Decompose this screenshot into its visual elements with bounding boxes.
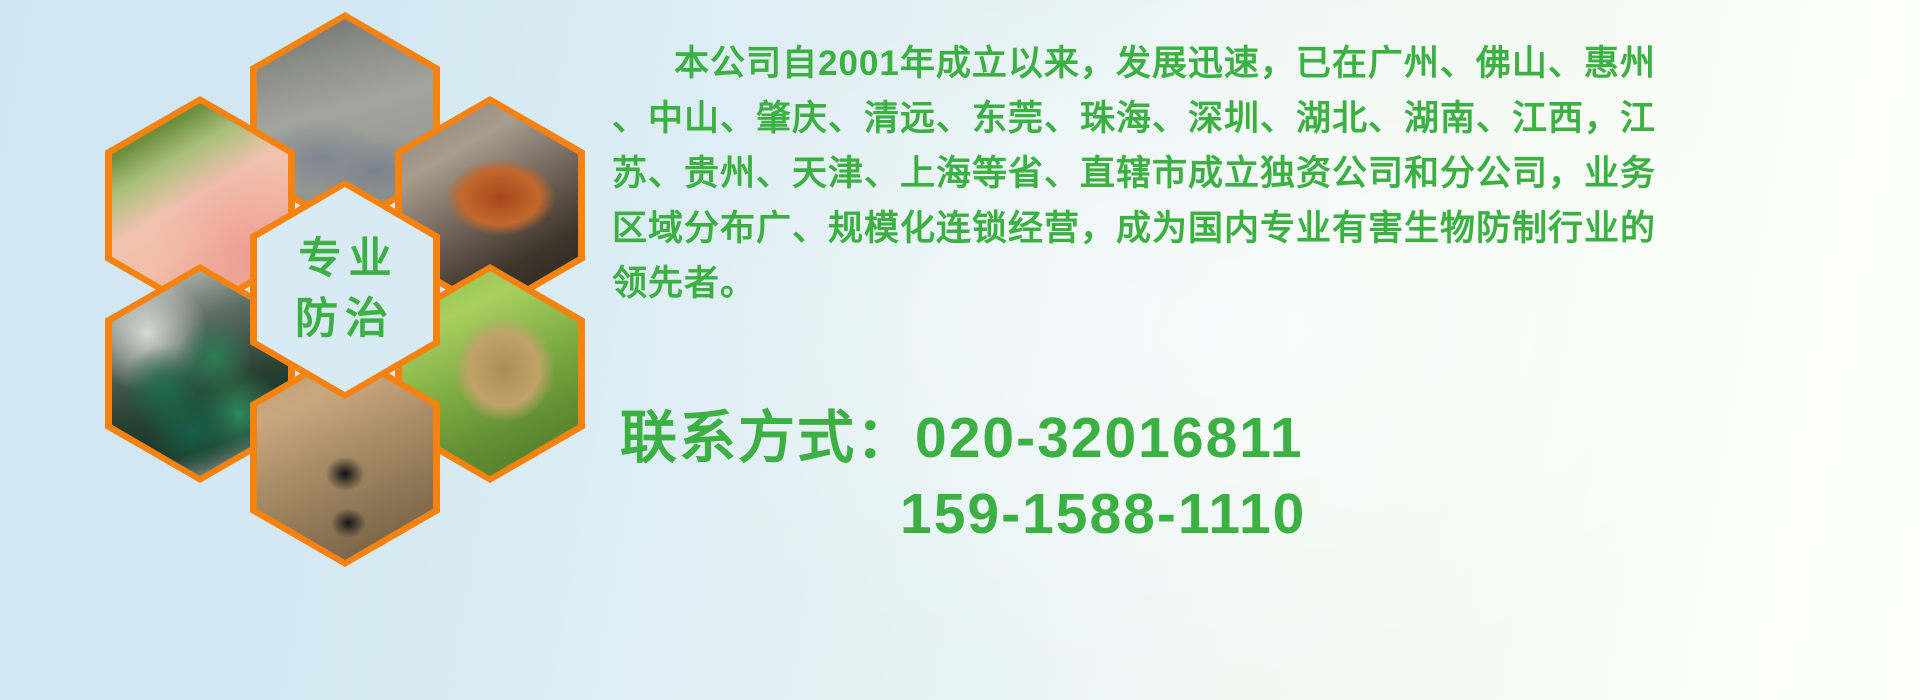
hexagon-photo-cluster: 专业 防治 bbox=[95, 0, 595, 560]
contact-phone-landline[interactable]: 联系方式：020-32016811 bbox=[620, 400, 1900, 476]
contact-block: 联系方式：020-32016811 159-1588-1110 bbox=[620, 400, 1900, 552]
contact-phone-mobile[interactable]: 159-1588-1110 bbox=[620, 476, 1900, 552]
slogan-line-1: 专业 bbox=[299, 235, 399, 283]
about-line-2: 、中山、肇庆、清远、东莞、珠海、深圳、湖北、湖南、江西，江 bbox=[612, 91, 1912, 146]
about-paragraph: 本公司自2001年成立以来，发展迅速，已在广州、佛山、惠州 、中山、肇庆、清远、… bbox=[612, 36, 1912, 311]
about-copy-block: 本公司自2001年成立以来，发展迅速，已在广州、佛山、惠州 、中山、肇庆、清远、… bbox=[612, 36, 1912, 311]
hex-slogan-mask: 专业 防治 bbox=[257, 187, 433, 392]
slogan-line-2: 防治 bbox=[295, 295, 395, 343]
promo-banner: 专业 防治 本公司自2001年成立以来，发展迅速，已在广州、佛山、惠州 、中山、… bbox=[0, 0, 1920, 700]
about-line-3: 苏、贵州、天津、上海等省、直辖市成立独资公司和分公司，业务 bbox=[612, 146, 1912, 201]
slogan-text: 专业 防治 bbox=[292, 230, 399, 349]
hex-cell-slogan: 专业 防治 bbox=[250, 180, 440, 399]
about-line-5: 领先者。 bbox=[612, 256, 1912, 311]
about-line-1: 本公司自2001年成立以来，发展迅速，已在广州、佛山、惠州 bbox=[612, 36, 1912, 91]
about-line-4: 区域分布广、规模化连锁经营，成为国内专业有害生物防制行业的 bbox=[612, 201, 1912, 256]
hex-border: 专业 防治 bbox=[250, 180, 440, 399]
